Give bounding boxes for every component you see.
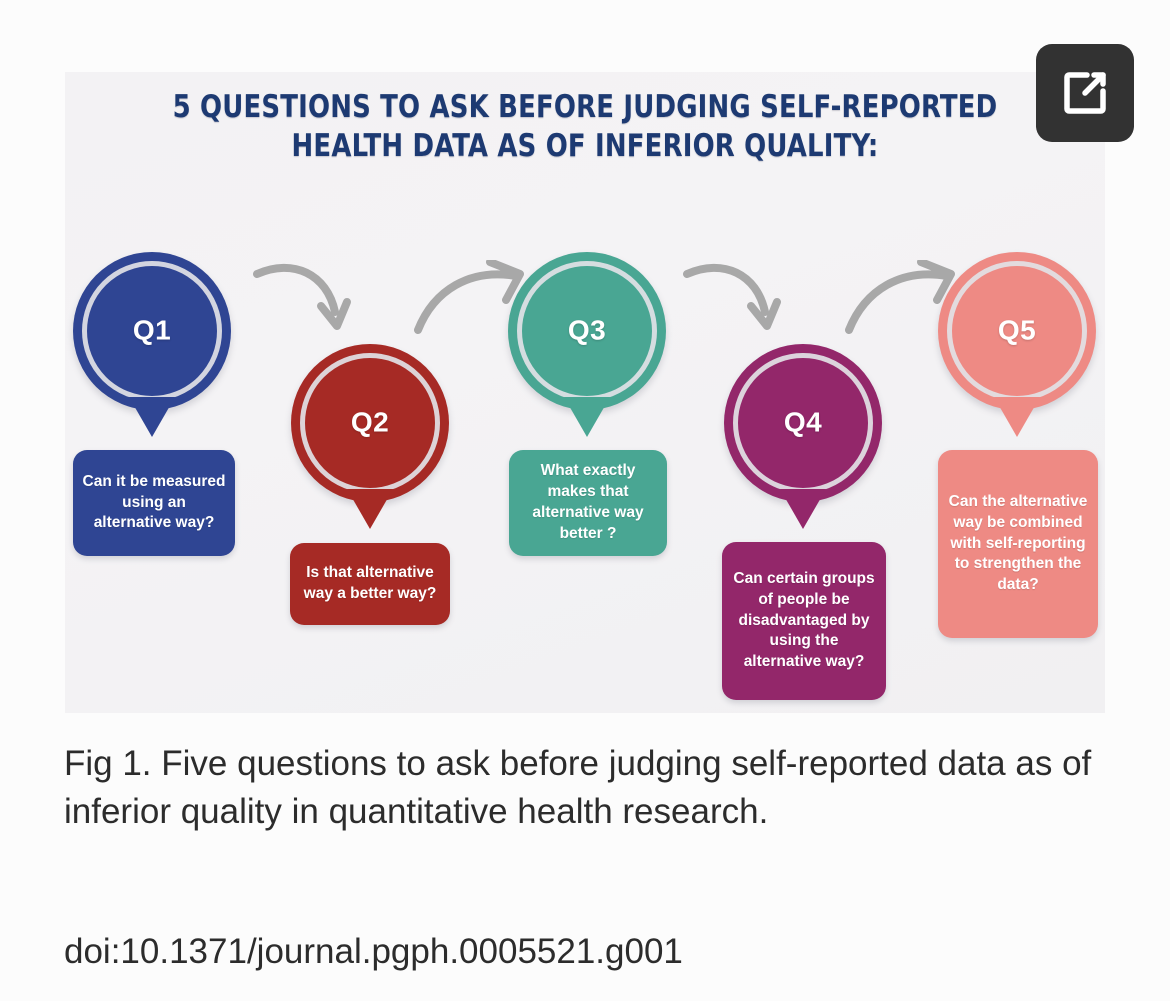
pin-tail-q5 [994,397,1040,437]
expand-figure-button[interactable] [1036,44,1134,142]
pin-label-q2: Q2 [291,406,449,438]
pin-circle-q3[interactable]: Q3 [508,252,666,410]
pin-circle-q2[interactable]: Q2 [291,344,449,502]
card-q5[interactable]: Can the alternative way be combined with… [938,450,1098,638]
figure-title: 5 QUESTIONS TO ASK BEFORE JUDGING SELF-R… [101,88,1068,166]
pin-label-q4: Q4 [724,406,882,438]
figure-image[interactable]: 5 QUESTIONS TO ASK BEFORE JUDGING SELF-R… [65,72,1105,713]
card-q4[interactable]: Can certain groups of people be disadvan… [722,542,886,700]
pin-tail-q3 [564,397,610,437]
pin-circle-q4[interactable]: Q4 [724,344,882,502]
pin-circle-q5[interactable]: Q5 [938,252,1096,410]
card-q3[interactable]: What exactly makes that alternative way … [509,450,667,556]
figure-doi: doi:10.1371/journal.pgph.0005521.g001 [64,931,683,973]
card-q1[interactable]: Can it be measured using an alternative … [73,450,235,556]
arrow-q3-q4 [681,260,801,355]
pin-label-q1: Q1 [73,314,231,346]
arrow-q1-q2 [251,260,371,355]
pin-tail-q4 [780,489,826,529]
pin-label-q3: Q3 [508,314,666,346]
figure-title-line-2: HEALTH DATA AS OF INFERIOR QUALITY: [101,127,1068,166]
figure-title-line-1: 5 QUESTIONS TO ASK BEFORE JUDGING SELF-R… [101,88,1068,127]
figure-caption: Fig 1. Five questions to ask before judg… [64,740,1119,835]
pin-tail-q1 [129,397,175,437]
card-q2[interactable]: Is that alternative way a better way? [290,543,450,625]
pin-label-q5: Q5 [938,314,1096,346]
open-in-new-icon [1058,66,1112,120]
pin-circle-q1[interactable]: Q1 [73,252,231,410]
pin-tail-q2 [347,489,393,529]
